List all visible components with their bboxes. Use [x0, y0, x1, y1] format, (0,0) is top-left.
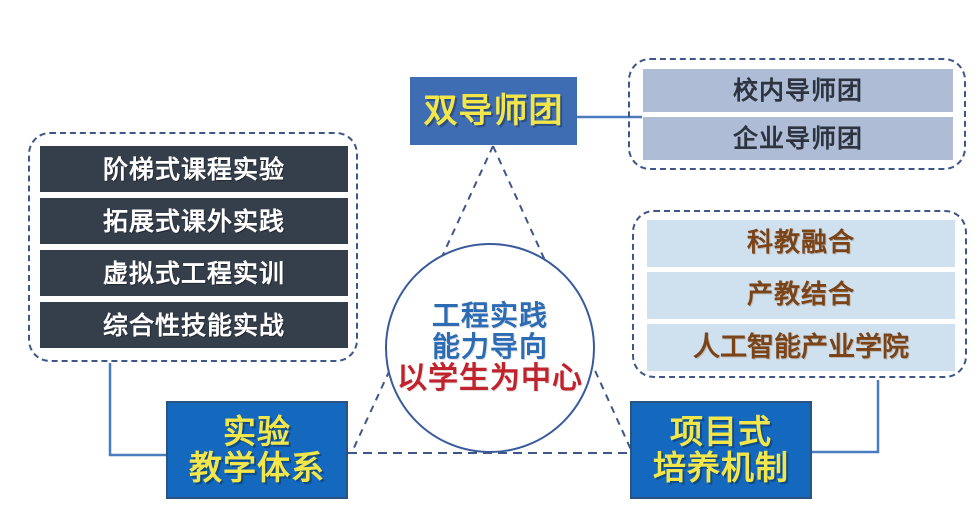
practice-item-2[interactable]: 拓展式课外实践 — [40, 198, 348, 244]
center-line-1: 工程实践 — [432, 300, 548, 331]
center-focus-circle: 工程实践 能力导向 以学生为中心 — [385, 243, 595, 453]
mentor-item-2[interactable]: 企业导师团 — [643, 117, 953, 160]
mentor-team-box[interactable]: 双导师团 — [410, 77, 577, 145]
mentor-team-label: 双导师团 — [424, 93, 564, 130]
lab-system-label-line2: 教学体系 — [189, 450, 325, 486]
integration-item-1[interactable]: 科教融合 — [647, 220, 955, 267]
connector-integration-to-project — [812, 380, 878, 452]
mentor-item-1[interactable]: 校内导师团 — [643, 69, 953, 112]
diagram-canvas: 阶梯式课程实验 拓展式课外实践 虚拟式工程实训 综合性技能实战 双导师团 校内导… — [0, 0, 980, 516]
practice-item-1[interactable]: 阶梯式课程实验 — [40, 146, 348, 192]
integration-item-2[interactable]: 产教结合 — [647, 272, 955, 319]
lab-system-label-line1: 实验 — [223, 414, 291, 450]
center-line-2: 能力导向 — [432, 331, 548, 362]
practice-item-3[interactable]: 虚拟式工程实训 — [40, 250, 348, 296]
center-line-3: 以学生为中心 — [397, 362, 583, 396]
project-mechanism-box[interactable]: 项目式 培养机制 — [630, 401, 812, 499]
project-mechanism-label-line2: 培养机制 — [653, 450, 789, 486]
project-mechanism-label-line1: 项目式 — [670, 414, 772, 450]
lab-system-box[interactable]: 实验 教学体系 — [166, 401, 348, 499]
integration-item-3[interactable]: 人工智能产业学院 — [647, 324, 955, 371]
practice-item-4[interactable]: 综合性技能实战 — [40, 302, 348, 348]
connector-practice-to-lab-system — [110, 363, 168, 455]
